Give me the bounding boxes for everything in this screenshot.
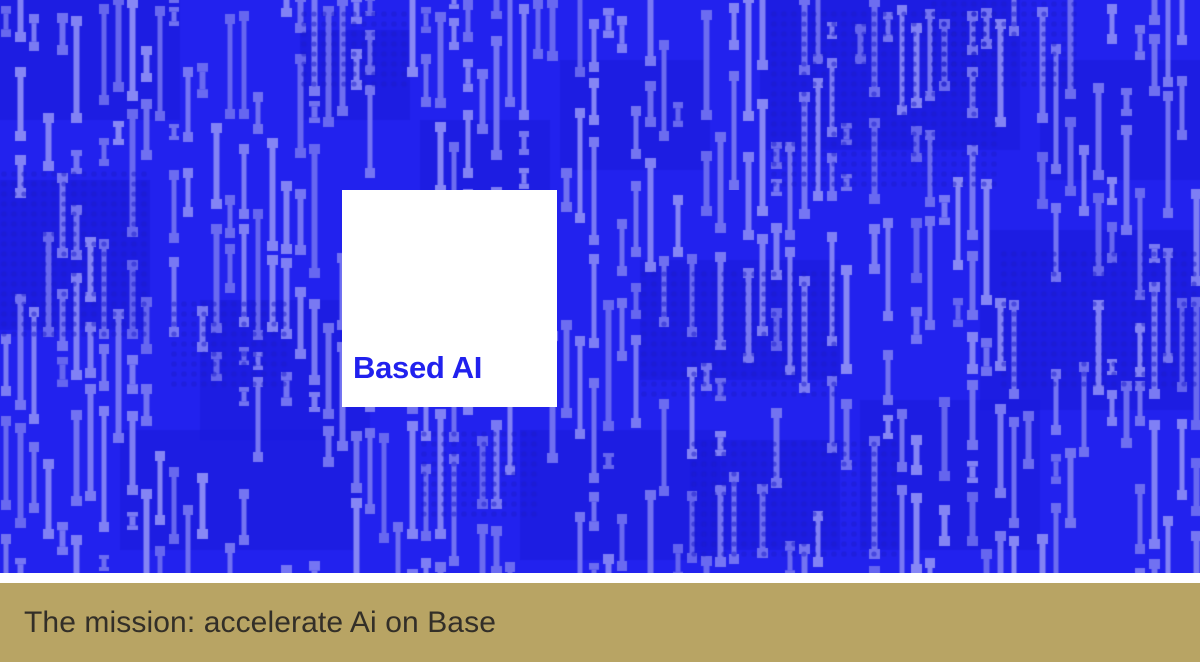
based-ai-logo-card: Based AI xyxy=(342,190,557,407)
white-separator-strip xyxy=(0,573,1200,583)
caption-text: The mission: accelerate Ai on Base xyxy=(24,606,496,640)
generative-pattern-canvas xyxy=(0,0,1200,573)
caption-bar: The mission: accelerate Ai on Base xyxy=(0,583,1200,662)
based-ai-logo-label: Based AI xyxy=(353,352,482,383)
generative-artwork-panel: Based AI xyxy=(0,0,1200,573)
slide-root: Based AI The mission: accelerate Ai on B… xyxy=(0,0,1200,662)
